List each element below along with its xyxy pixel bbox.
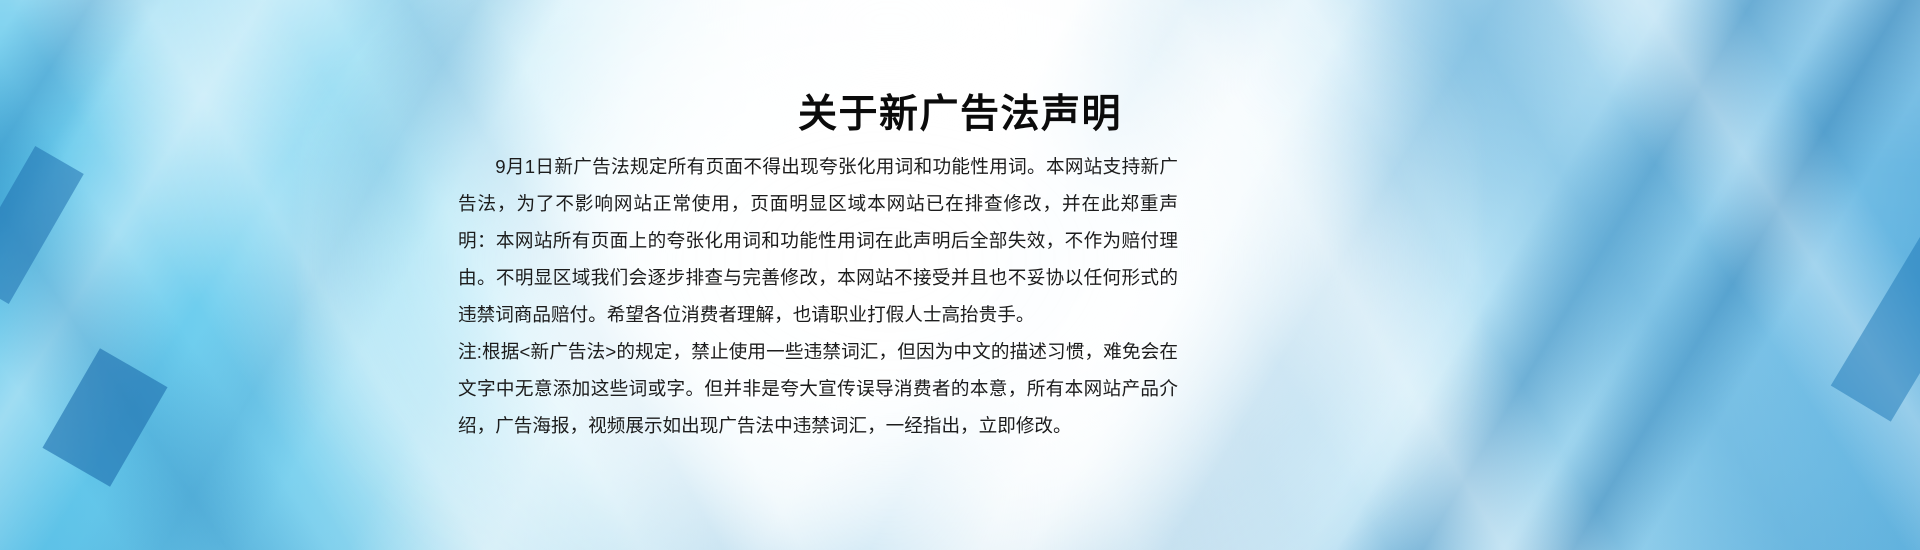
statement-paragraph-note: 注:根据<新广告法>的规定，禁止使用一些违禁词汇，但因为中文的描述习惯，难免会在… [458,333,1178,444]
statement-content: 关于新广告法声明 9月1日新广告法规定所有页面不得出现夸张化用词和功能性用词。本… [0,0,1920,550]
page-title: 关于新广告法声明 [0,83,1920,139]
statement-paragraph-main: 9月1日新广告法规定所有页面不得出现夸张化用词和功能性用词。本网站支持新广告法，… [458,148,1178,333]
statement-text-block: 9月1日新广告法规定所有页面不得出现夸张化用词和功能性用词。本网站支持新广告法，… [458,148,1178,444]
advertising-law-statement-banner: 关于新广告法声明 9月1日新广告法规定所有页面不得出现夸张化用词和功能性用词。本… [0,0,1920,550]
